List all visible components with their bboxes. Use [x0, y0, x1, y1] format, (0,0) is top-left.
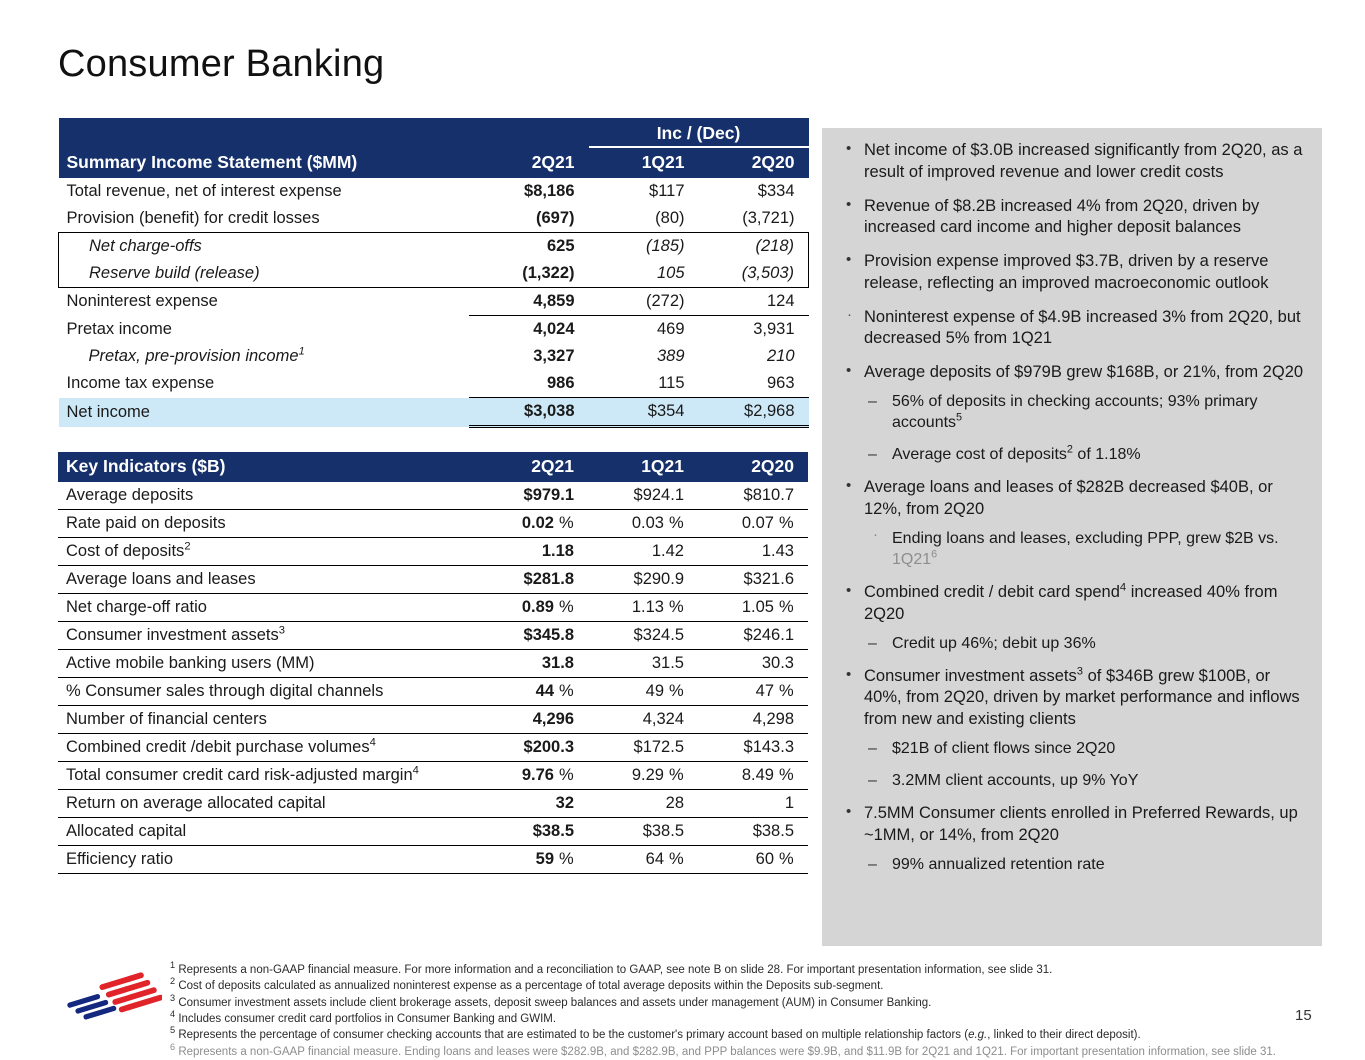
row-label: Consumer investment assets3: [58, 622, 468, 650]
footnote-number: 3: [170, 993, 175, 1003]
commentary-panel: Net income of $3.0B increased significan…: [822, 128, 1322, 946]
commentary-sub-bullet: 3.2MM client accounts, up 9% YoY: [864, 770, 1306, 791]
inc-dec-group-header: Inc / (Dec): [589, 118, 809, 147]
row-value-2q20: $334: [699, 178, 809, 205]
table-row: Average loans and leases$281.8$290.9$321…: [58, 566, 808, 594]
row-value-1q21: 115: [589, 370, 699, 398]
column-header-1q21: 1Q21: [589, 147, 699, 178]
row-label: Average deposits: [58, 482, 468, 510]
header-spacer: [469, 118, 589, 147]
row-value-2q20: 0.07%: [698, 510, 808, 538]
commentary-sub-bullet: Average cost of deposits2 of 1.18%: [864, 444, 1306, 465]
row-value-1q21: $324.5: [588, 622, 698, 650]
column-header-2q21: 2Q21: [469, 147, 589, 178]
footnote: 4 Includes consumer credit card portfoli…: [170, 1011, 1280, 1027]
commentary-bullet: Provision expense improved $3.7B, driven…: [834, 251, 1306, 295]
footnote-marker: 1: [299, 346, 305, 358]
row-value-2q20: $143.3: [698, 734, 808, 762]
row-value-1q21: 9.29%: [588, 762, 698, 790]
row-value-1q21: 389: [589, 343, 699, 370]
row-value-2q20: $2,968: [699, 398, 809, 427]
table-row: Efficiency ratio59%64%60%: [58, 846, 808, 874]
row-value-2q20: 124: [699, 288, 809, 316]
row-value-2q21: 0.89%: [468, 594, 588, 622]
row-value-2q21: 3,327: [469, 343, 589, 370]
row-label: Active mobile banking users (MM): [58, 650, 468, 678]
row-value-2q21: 4,859: [469, 288, 589, 316]
table-row: Return on average allocated capital32281: [58, 790, 808, 818]
table-row: Total revenue, net of interest expense $…: [59, 178, 809, 205]
commentary-sub-list: $21B of client flows since 2Q203.2MM cli…: [864, 738, 1306, 791]
row-value-2q21: $281.8: [468, 566, 588, 594]
row-label: % Consumer sales through digital channel…: [58, 678, 468, 706]
row-value-2q21: (1,322): [469, 260, 589, 288]
footnote-marker: 3: [1077, 665, 1083, 677]
row-value-2q21: $979.1: [468, 482, 588, 510]
footnote-marker: 5: [956, 412, 962, 424]
row-value-1q21: $117: [589, 178, 699, 205]
row-value-1q21: (185): [589, 233, 699, 261]
percent-sign: %: [774, 682, 794, 701]
table-row: Cost of deposits21.181.421.43: [58, 538, 808, 566]
row-value-1q21: 49%: [588, 678, 698, 706]
commentary-sub-list: Ending loans and leases, excluding PPP, …: [864, 528, 1306, 570]
commentary-sub-list: 56% of deposits in checking accounts; 93…: [864, 391, 1306, 465]
footnote-number: 5: [170, 1025, 175, 1035]
row-value-2q20: $321.6: [698, 566, 808, 594]
row-value-1q21: 469: [589, 316, 699, 344]
page-title: Consumer Banking: [58, 43, 384, 86]
table-row: Reserve build (release) (1,322) 105 (3,5…: [59, 260, 809, 288]
footnote-number: 1: [170, 960, 175, 970]
table-row: Combined credit /debit purchase volumes4…: [58, 734, 808, 762]
row-value-2q21: 32: [468, 790, 588, 818]
row-value-1q21: $172.5: [588, 734, 698, 762]
row-value-2q20: (218): [699, 233, 809, 261]
commentary-bullet-list: Net income of $3.0B increased significan…: [834, 140, 1306, 875]
percent-sign: %: [664, 766, 684, 785]
table-row-net-income: Net income $3,038 $354 $2,968: [59, 398, 809, 427]
percent-sign: %: [664, 850, 684, 869]
row-value-2q20: $810.7: [698, 482, 808, 510]
commentary-sub-bullet: $21B of client flows since 2Q20: [864, 738, 1306, 759]
row-value-1q21: 1.42: [588, 538, 698, 566]
row-value-2q20: 47%: [698, 678, 808, 706]
footnote-marker: 3: [279, 625, 285, 637]
row-label: Net income: [59, 398, 469, 427]
row-value-2q21: $3,038: [469, 398, 589, 427]
percent-sign: %: [554, 850, 574, 869]
row-value-1q21: 64%: [588, 846, 698, 874]
row-label: Net charge-offs: [59, 233, 469, 261]
table-row: Income tax expense 986 115 963: [59, 370, 809, 398]
row-label: Combined credit /debit purchase volumes4: [58, 734, 468, 762]
row-value-2q21: $38.5: [468, 818, 588, 846]
row-label: Reserve build (release): [59, 260, 469, 288]
footnote-marker: 4: [370, 737, 376, 749]
table-row: Pretax income 4,024 469 3,931: [59, 316, 809, 344]
percent-sign: %: [554, 682, 574, 701]
row-value-2q20: $246.1: [698, 622, 808, 650]
table-row: Average deposits$979.1$924.1$810.7: [58, 482, 808, 510]
row-value-1q21: $38.5: [588, 818, 698, 846]
commentary-bullet: Net income of $3.0B increased significan…: [834, 140, 1306, 184]
row-value-1q21: 28: [588, 790, 698, 818]
row-value-2q21: (697): [469, 205, 589, 233]
row-value-2q20: 210: [699, 343, 809, 370]
row-value-1q21: $924.1: [588, 482, 698, 510]
table-row: Pretax, pre-provision income1 3,327 389 …: [59, 343, 809, 370]
row-label: Efficiency ratio: [58, 846, 468, 874]
row-value-2q21: 4,296: [468, 706, 588, 734]
percent-sign: %: [554, 514, 574, 533]
row-value-2q20: 4,298: [698, 706, 808, 734]
row-value-1q21: 0.03%: [588, 510, 698, 538]
row-value-2q20: 60%: [698, 846, 808, 874]
footnote-number: 2: [170, 977, 175, 987]
commentary-bullet: Average loans and leases of $282B decrea…: [834, 477, 1306, 570]
column-header-2q20: 2Q20: [698, 452, 808, 482]
row-value-1q21: 1.13%: [588, 594, 698, 622]
row-value-2q20: 1.43: [698, 538, 808, 566]
row-value-2q21: $345.8: [468, 622, 588, 650]
percent-sign: %: [664, 598, 684, 617]
percent-sign: %: [664, 514, 684, 533]
footnotes: 1 Represents a non-GAAP financial measur…: [170, 962, 1280, 1060]
row-value-2q21: 986: [469, 370, 589, 398]
table-row: Provision (benefit) for credit losses (6…: [59, 205, 809, 233]
row-value-2q20: 3,931: [699, 316, 809, 344]
row-value-2q21: 0.02%: [468, 510, 588, 538]
row-value-2q21: 4,024: [469, 316, 589, 344]
percent-sign: %: [774, 766, 794, 785]
row-label: Total consumer credit card risk-adjusted…: [58, 762, 468, 790]
header-spacer: [59, 118, 469, 147]
dimmed-text: 1Q21: [892, 551, 931, 568]
page-number: 15: [1295, 1007, 1312, 1024]
footnote: 3 Consumer investment assets include cli…: [170, 995, 1280, 1011]
row-value-1q21: 31.5: [588, 650, 698, 678]
commentary-bullet: Revenue of $8.2B increased 4% from 2Q20,…: [834, 196, 1306, 240]
commentary-sub-list: Credit up 46%; debit up 36%: [864, 633, 1306, 654]
commentary-sub-bullet: Ending loans and leases, excluding PPP, …: [864, 528, 1306, 570]
row-value-2q21: 1.18: [468, 538, 588, 566]
row-label: Pretax, pre-provision income1: [59, 343, 469, 370]
footnote: 6 Represents a non-GAAP financial measur…: [170, 1044, 1280, 1060]
table-row: Net charge-off ratio0.89%1.13%1.05%: [58, 594, 808, 622]
percent-sign: %: [554, 598, 574, 617]
table-header-row: Key Indicators ($B) 2Q21 1Q21 2Q20: [58, 452, 808, 482]
italic-text: e.g.: [968, 1029, 987, 1041]
table-row: Total consumer credit card risk-adjusted…: [58, 762, 808, 790]
row-label: Return on average allocated capital: [58, 790, 468, 818]
row-value-2q20: 963: [699, 370, 809, 398]
column-header-1q21: 1Q21: [588, 452, 698, 482]
row-value-1q21: (272): [589, 288, 699, 316]
column-header-2q20: 2Q20: [699, 147, 809, 178]
percent-sign: %: [664, 682, 684, 701]
commentary-bullet: Combined credit / debit card spend4 incr…: [834, 582, 1306, 654]
column-header-2q21: 2Q21: [468, 452, 588, 482]
commentary-sub-bullet: Credit up 46%; debit up 36%: [864, 633, 1306, 654]
footnote: 5 Represents the percentage of consumer …: [170, 1027, 1280, 1043]
table-header-row: Summary Income Statement ($MM) 2Q21 1Q21…: [59, 147, 809, 178]
row-value-2q21: 9.76%: [468, 762, 588, 790]
commentary-bullet: 7.5MM Consumer clients enrolled in Prefe…: [834, 803, 1306, 875]
row-label: Rate paid on deposits: [58, 510, 468, 538]
row-value-2q20: 1.05%: [698, 594, 808, 622]
footnote-marker: 6: [931, 549, 937, 561]
row-label: Average loans and leases: [58, 566, 468, 594]
row-value-1q21: $354: [589, 398, 699, 427]
table-row: Number of financial centers4,2964,3244,2…: [58, 706, 808, 734]
footnote-marker: 2: [1067, 444, 1073, 456]
row-label: Total revenue, net of interest expense: [59, 178, 469, 205]
table-header-group-row: Inc / (Dec): [59, 118, 809, 147]
table-row: Active mobile banking users (MM)31.831.5…: [58, 650, 808, 678]
row-value-2q21: $8,186: [469, 178, 589, 205]
percent-sign: %: [774, 598, 794, 617]
footnote-marker: 2: [184, 541, 190, 553]
kpi-table-title: Key Indicators ($B): [58, 452, 468, 482]
row-value-2q21: 59%: [468, 846, 588, 874]
row-value-2q20: 8.49%: [698, 762, 808, 790]
footnote-number: 4: [170, 1009, 175, 1019]
percent-sign: %: [774, 850, 794, 869]
table-row: Consumer investment assets3$345.8$324.5$…: [58, 622, 808, 650]
row-value-2q20: (3,721): [699, 205, 809, 233]
table-row: % Consumer sales through digital channel…: [58, 678, 808, 706]
footnote-number: 6: [170, 1042, 175, 1052]
row-value-2q21: 44%: [468, 678, 588, 706]
table-total-underline: [59, 427, 809, 431]
income-table-title: Summary Income Statement ($MM): [59, 147, 469, 178]
key-indicators-table: Key Indicators ($B) 2Q21 1Q21 2Q20 Avera…: [58, 452, 808, 874]
row-value-1q21: 105: [589, 260, 699, 288]
row-label: Noninterest expense: [59, 288, 469, 316]
table-row: Rate paid on deposits0.02%0.03%0.07%: [58, 510, 808, 538]
footnote-marker: 4: [1120, 581, 1126, 593]
commentary-sub-bullet: 56% of deposits in checking accounts; 93…: [864, 391, 1306, 433]
row-label: Income tax expense: [59, 370, 469, 398]
row-value-1q21: 4,324: [588, 706, 698, 734]
row-value-2q21: 625: [469, 233, 589, 261]
row-label: Provision (benefit) for credit losses: [59, 205, 469, 233]
row-value-2q21: 31.8: [468, 650, 588, 678]
row-label: Cost of deposits2: [58, 538, 468, 566]
footnote-marker: 4: [413, 765, 419, 777]
summary-income-statement-table: Inc / (Dec) Summary Income Statement ($M…: [58, 118, 809, 431]
row-label: Pretax income: [59, 316, 469, 344]
row-value-2q20: (3,503): [699, 260, 809, 288]
percent-sign: %: [554, 766, 574, 785]
row-value-2q20: 30.3: [698, 650, 808, 678]
table-row: Noninterest expense 4,859 (272) 124: [59, 288, 809, 316]
row-value-1q21: $290.9: [588, 566, 698, 594]
percent-sign: %: [774, 514, 794, 533]
bank-of-america-flagscape-logo: [62, 972, 162, 1030]
row-value-2q21: $200.3: [468, 734, 588, 762]
commentary-bullet: Consumer investment assets3 of $346B gre…: [834, 666, 1306, 792]
table-row: Net charge-offs 625 (185) (218): [59, 233, 809, 261]
table-row: Allocated capital$38.5$38.5$38.5: [58, 818, 808, 846]
row-label: Allocated capital: [58, 818, 468, 846]
footnote: 2 Cost of deposits calculated as annuali…: [170, 978, 1280, 994]
row-label-text: Pretax, pre-provision income: [89, 347, 299, 365]
footnote: 1 Represents a non-GAAP financial measur…: [170, 962, 1280, 978]
row-value-2q20: 1: [698, 790, 808, 818]
commentary-sub-bullet: 99% annualized retention rate: [864, 854, 1306, 875]
row-label: Net charge-off ratio: [58, 594, 468, 622]
commentary-bullet: Average deposits of $979B grew $168B, or…: [834, 362, 1306, 465]
row-value-2q20: $38.5: [698, 818, 808, 846]
row-label: Number of financial centers: [58, 706, 468, 734]
row-value-1q21: (80): [589, 205, 699, 233]
commentary-sub-list: 99% annualized retention rate: [864, 854, 1306, 875]
commentary-bullet: Noninterest expense of $4.9B increased 3…: [834, 307, 1306, 351]
